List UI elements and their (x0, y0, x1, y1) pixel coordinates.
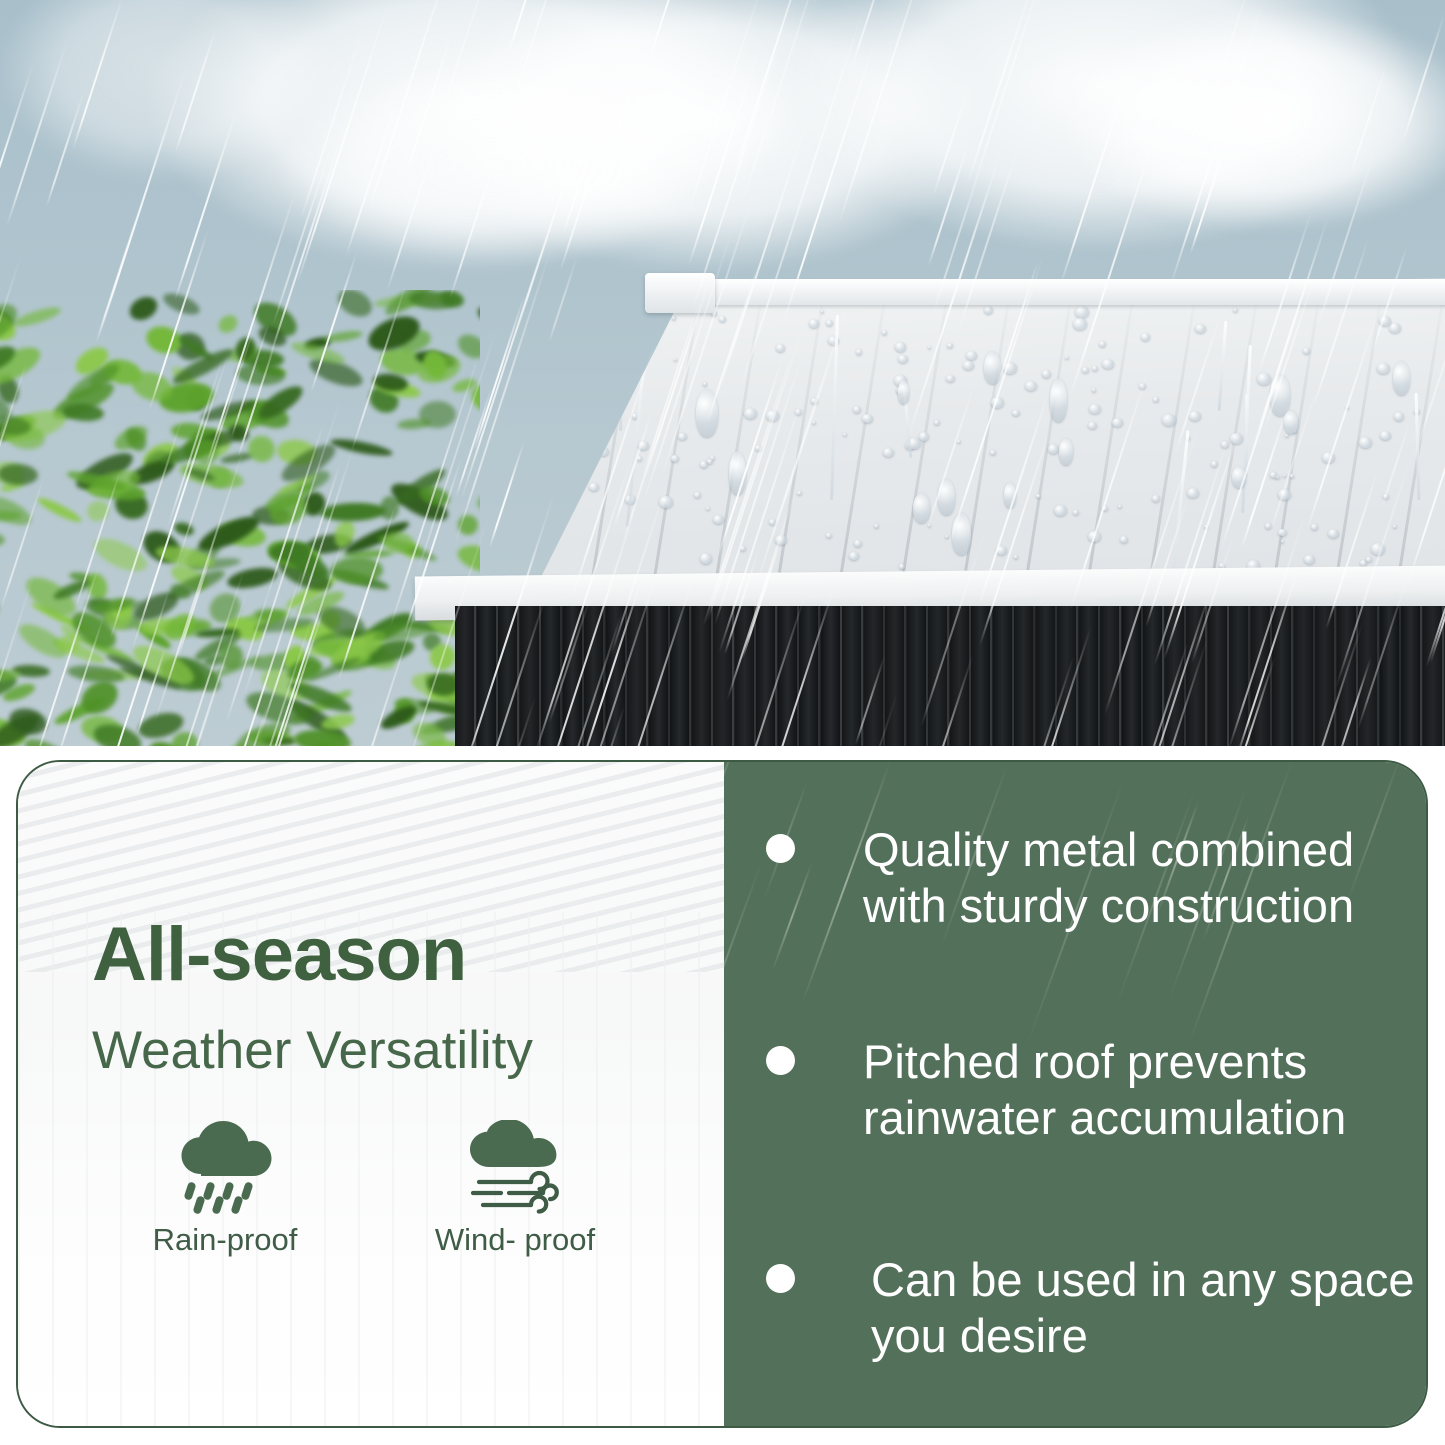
list-item: Pitched roof prevents rainwater accumula… (766, 1034, 1416, 1146)
feature-card: All-season Weather Versatility (16, 760, 1428, 1428)
page-subtitle: Weather Versatility (92, 1024, 533, 1077)
wind-cloud-icon (461, 1120, 569, 1214)
benefit-text: Can be used in any space you desire (871, 1252, 1414, 1364)
list-item: Can be used in any space you desire (766, 1252, 1426, 1364)
benefit-text: Pitched roof prevents rainwater accumula… (863, 1034, 1346, 1146)
card-left-panel: All-season Weather Versatility (18, 762, 724, 1426)
bullet-dot-icon (766, 1264, 795, 1293)
shed-roof (395, 275, 1445, 625)
cloud-shape (280, 70, 710, 260)
feature-wind-proof: Wind- proof (370, 1120, 660, 1258)
roof-ridge-cap (645, 273, 715, 313)
roof-ridge (650, 279, 1445, 305)
card-right-panel: Quality metal combined with sturdy const… (724, 762, 1428, 1426)
product-feature-graphic: All-season Weather Versatility (0, 0, 1445, 1445)
feature-label: Rain-proof (153, 1222, 298, 1258)
feature-icon-row: Rain-proof (80, 1120, 660, 1258)
bullet-dot-icon (766, 1046, 795, 1075)
benefit-list: Quality metal combined with sturdy const… (724, 762, 1428, 1426)
feature-rain-proof: Rain-proof (80, 1120, 370, 1258)
benefit-text: Quality metal combined with sturdy const… (863, 822, 1354, 934)
shed-wall (455, 606, 1445, 746)
hero-photo (0, 0, 1445, 746)
list-item: Quality metal combined with sturdy const… (766, 822, 1416, 934)
rain-cloud-icon (171, 1120, 279, 1214)
bullet-dot-icon (766, 834, 795, 863)
feature-label: Wind- proof (435, 1222, 595, 1258)
page-title: All-season (92, 917, 466, 993)
